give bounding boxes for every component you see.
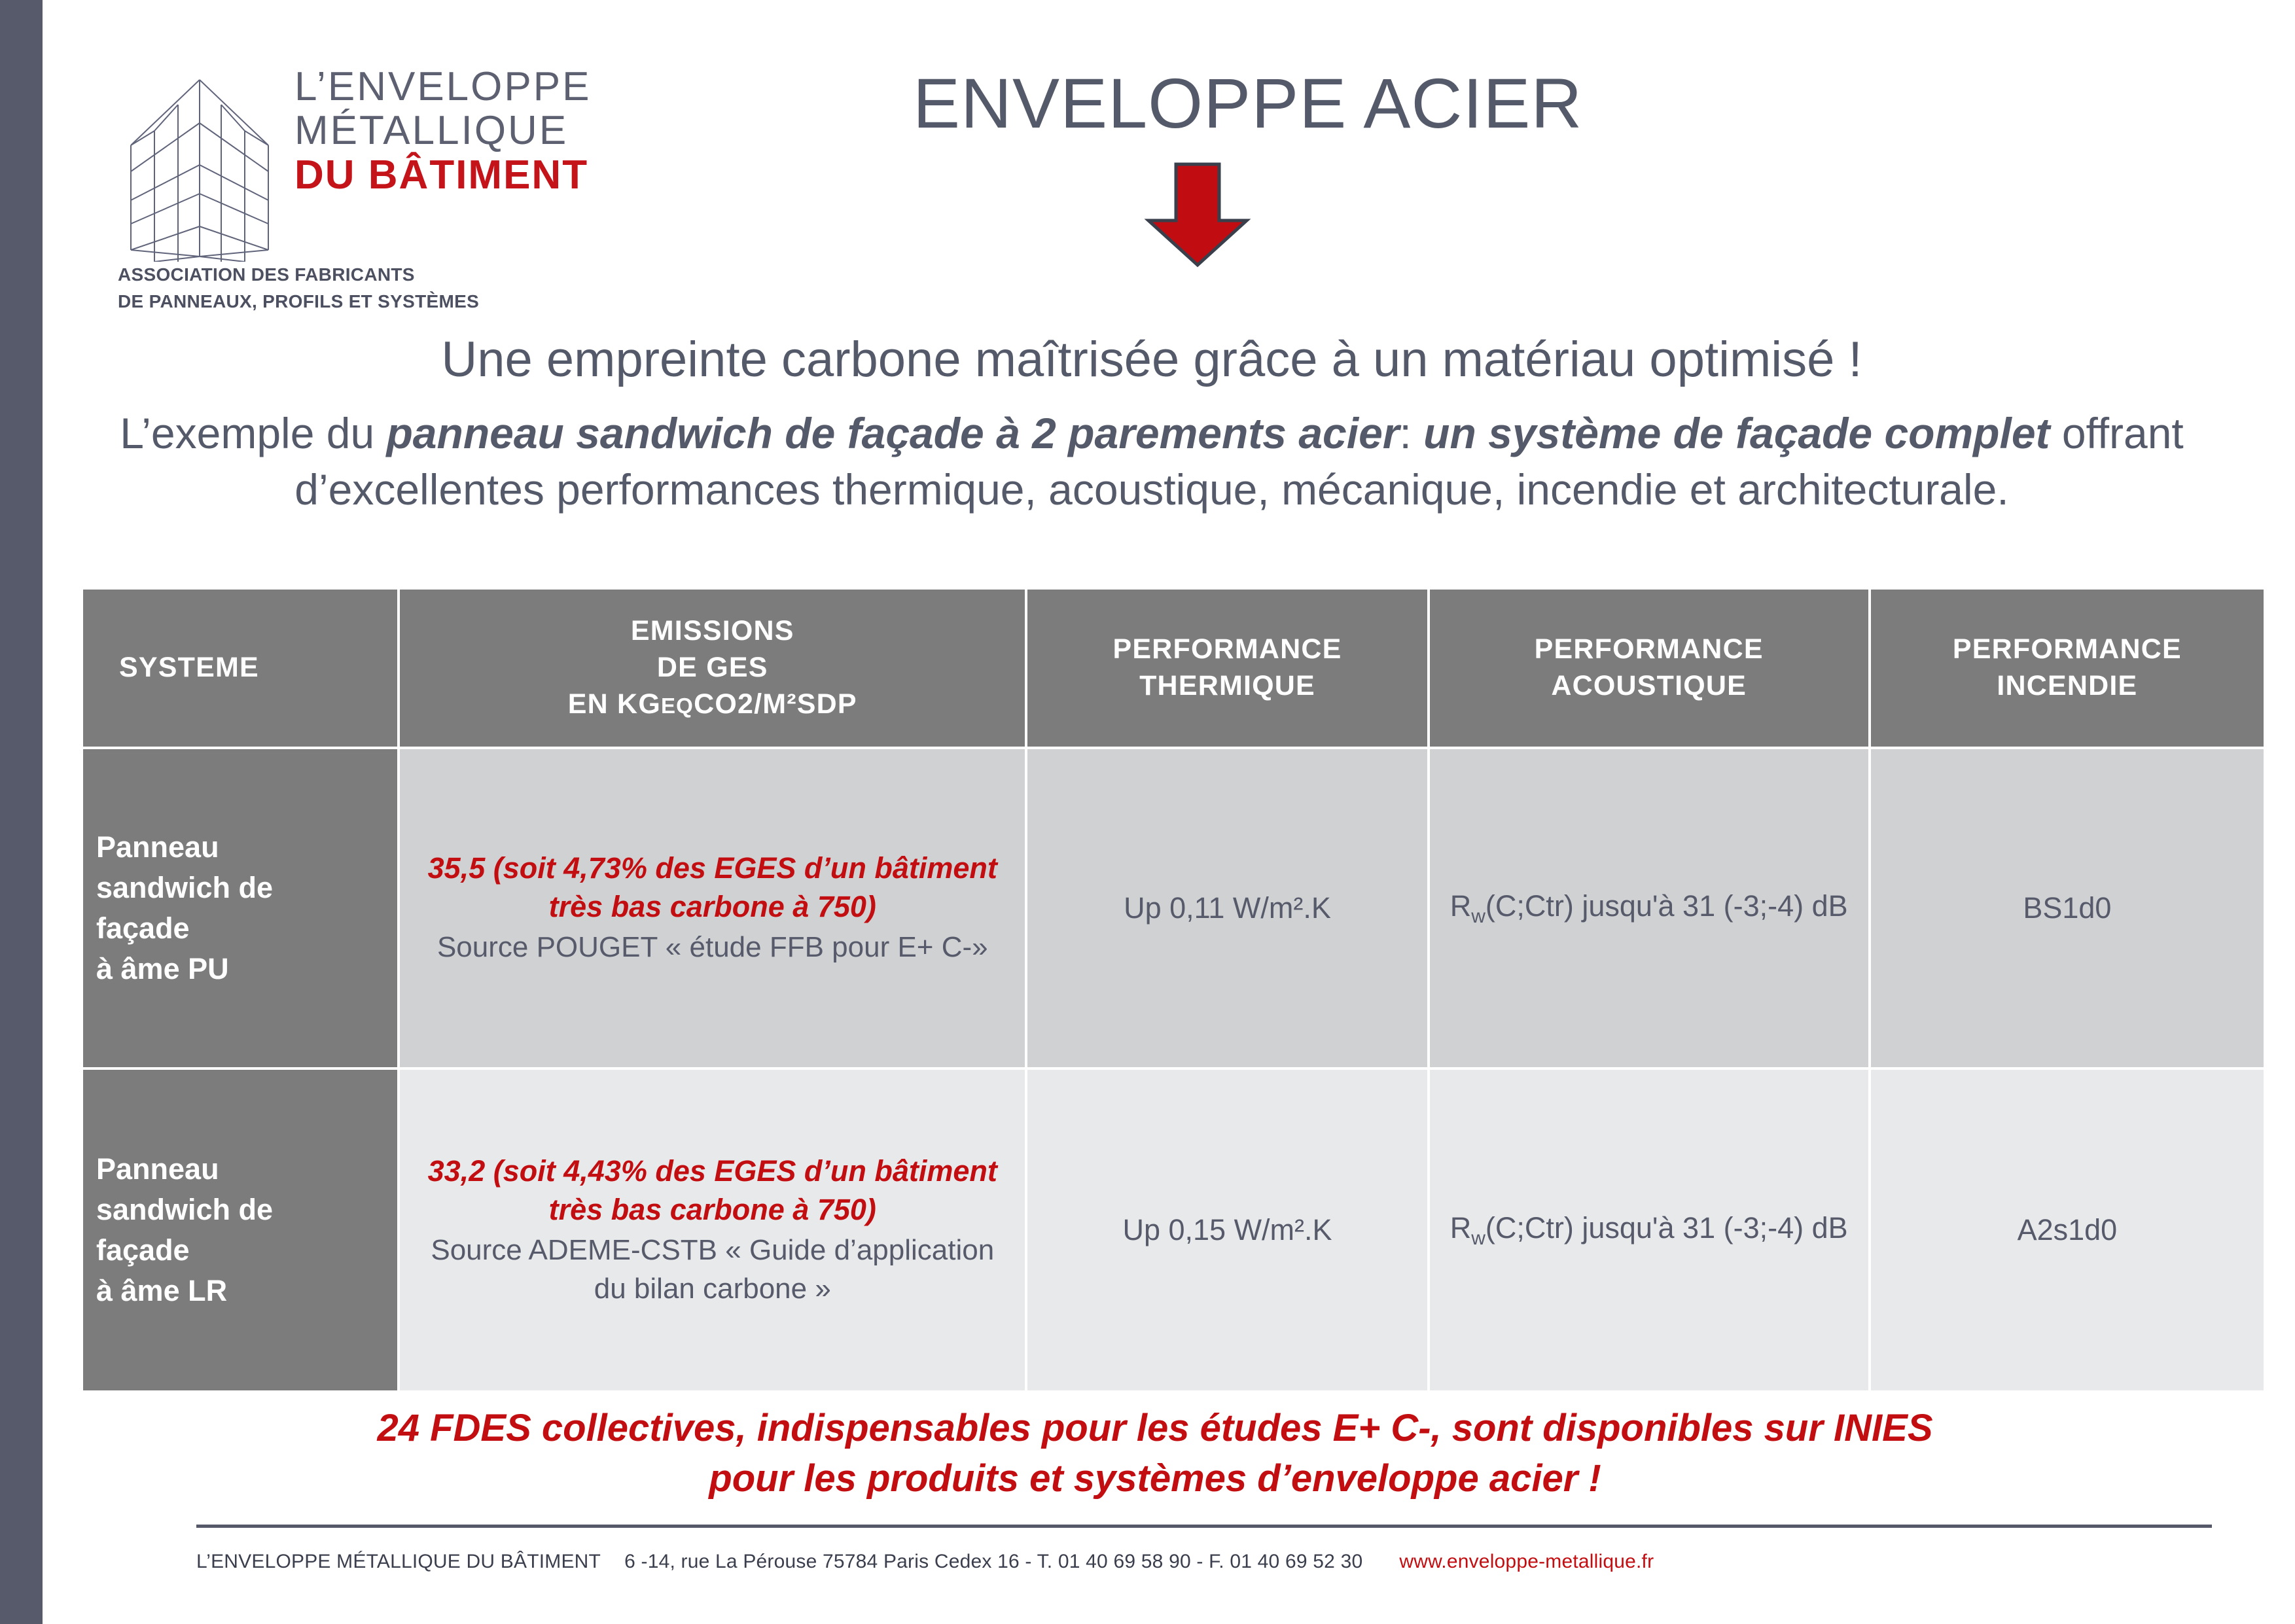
fdes-callout-line-1: 24 FDES collectives, indispensables pour… [79, 1403, 2232, 1454]
acoustique-post: (C;Ctr) jusqu'à 31 (-3;-4) dB [1486, 1211, 1848, 1244]
col-header-thermique-line-1: PERFORMANCE [1027, 631, 1427, 668]
col-header-emissions-ges: EMISSIONS DE GES EN KGEQCO2/M²SDP [400, 590, 1025, 747]
fdes-callout: 24 FDES collectives, indispensables pour… [79, 1403, 2232, 1504]
logo-line-du-batiment: DU BÂTIMENT [294, 153, 622, 198]
systeme-line-4: à âme LR [96, 1271, 397, 1311]
logo-tagline-line-2: DE PANNEAUX, PROFILS ET SYSTÈMES [118, 289, 615, 315]
acoustique-sub: w [1471, 906, 1486, 927]
col-header-ges-line-2: DE GES [400, 650, 1025, 686]
ges-value: 35,5 (soit 4,73% des EGES d’un bâtiment … [417, 849, 1008, 926]
fdes-callout-line-2: pour les produits et systèmes d’envelopp… [79, 1454, 2232, 1504]
systeme-line-4: à âme PU [96, 949, 397, 989]
association-logo: L’ENVELOPPE MÉTALLIQUE DU BÂTIMENT ASSOC… [118, 65, 628, 327]
col-header-systeme: SYSTEME [83, 590, 397, 747]
ges-value: 33,2 (soit 4,43% des EGES d’un bâtiment … [417, 1152, 1008, 1229]
ges-unit-post: CO2/M²SDP [694, 688, 857, 720]
cell-emissions-ges: 33,2 (soit 4,43% des EGES d’un bâtiment … [400, 1070, 1025, 1390]
intro-part-pre: L’exemple du [120, 409, 386, 457]
table-row: Panneau sandwich de façade à âme LR 33,2… [83, 1070, 2264, 1390]
table-header-row: SYSTEME EMISSIONS DE GES EN KGEQCO2/M²SD… [83, 590, 2264, 747]
footer-website-link[interactable]: www.enveloppe-metallique.fr [1399, 1551, 1654, 1572]
building-logo-icon [118, 72, 281, 262]
col-header-acoustique-line-1: PERFORMANCE [1430, 631, 1868, 668]
cell-performance-acoustique: Rw(C;Ctr) jusqu'à 31 (-3;-4) dB [1430, 749, 1868, 1067]
systeme-line-3: façade [96, 1230, 397, 1271]
col-header-performance-incendie: PERFORMANCE INCENDIE [1871, 590, 2264, 747]
down-arrow-icon [1139, 160, 1256, 268]
col-header-thermique-line-2: THERMIQUE [1027, 668, 1427, 705]
systeme-line-1: Panneau [96, 1149, 397, 1190]
logo-line-metallique: MÉTALLIQUE [294, 109, 622, 153]
systeme-line-2: sandwich de [96, 1190, 397, 1230]
ges-unit-eq: EQ [661, 694, 694, 718]
ges-source: Source ADEME-CSTB « Guide d’application … [417, 1231, 1008, 1307]
left-accent-bar [0, 0, 43, 1624]
footer: L’ENVELOPPE MÉTALLIQUE DU BÂTIMENT6 -14,… [196, 1551, 2212, 1573]
footer-divider [196, 1525, 2212, 1528]
intro-part-mid: : [1399, 409, 1423, 457]
systeme-line-3: façade [96, 908, 397, 949]
intro-paragraph: L’exemple du panneau sandwich de façade … [79, 406, 2225, 518]
logo-tagline: ASSOCIATION DES FABRICANTS DE PANNEAUX, … [118, 262, 615, 315]
footer-address: 6 -14, rue La Pérouse 75784 Paris Cedex … [624, 1551, 1362, 1572]
cell-performance-acoustique: Rw(C;Ctr) jusqu'à 31 (-3;-4) dB [1430, 1070, 1868, 1390]
cell-performance-thermique: Up 0,11 W/m².K [1027, 749, 1427, 1067]
col-header-ges-line-1: EMISSIONS [400, 613, 1025, 650]
logo-line-enveloppe: L’ENVELOPPE [294, 65, 622, 109]
cell-performance-incendie: BS1d0 [1871, 749, 2264, 1067]
cell-emissions-ges: 35,5 (soit 4,73% des EGES d’un bâtiment … [400, 749, 1025, 1067]
logo-wordmark: L’ENVELOPPE MÉTALLIQUE DU BÂTIMENT [294, 65, 622, 198]
cell-performance-thermique: Up 0,15 W/m².K [1027, 1070, 1427, 1390]
col-header-acoustique-line-2: ACOUSTIQUE [1430, 668, 1868, 705]
col-header-performance-acoustique: PERFORMANCE ACOUSTIQUE [1430, 590, 1868, 747]
systeme-line-2: sandwich de [96, 868, 397, 908]
intro-part-bold-1: panneau sandwich de façade à 2 parements… [386, 409, 1399, 457]
cell-systeme: Panneau sandwich de façade à âme LR [83, 1070, 397, 1390]
intro-headline: Une empreinte carbone maîtrisée grâce à … [79, 330, 2225, 389]
col-header-incendie-line-1: PERFORMANCE [1871, 631, 2264, 668]
acoustique-post: (C;Ctr) jusqu'à 31 (-3;-4) dB [1486, 889, 1848, 923]
page-title: ENVELOPPE ACIER [913, 62, 1582, 144]
acoustique-pre: R [1450, 889, 1472, 923]
systeme-line-1: Panneau [96, 827, 397, 868]
acoustique-pre: R [1450, 1211, 1472, 1244]
acoustique-sub: w [1471, 1227, 1486, 1249]
performance-table: SYSTEME EMISSIONS DE GES EN KGEQCO2/M²SD… [80, 587, 2266, 1393]
cell-systeme: Panneau sandwich de façade à âme PU [83, 749, 397, 1067]
ges-source: Source POUGET « étude FFB pour E+ C-» [417, 928, 1008, 966]
table-row: Panneau sandwich de façade à âme PU 35,5… [83, 749, 2264, 1067]
footer-org: L’ENVELOPPE MÉTALLIQUE DU BÂTIMENT [196, 1551, 601, 1572]
ges-unit-pre: EN KG [568, 688, 661, 720]
intro-part-bold-2: un système de façade complet [1423, 409, 2050, 457]
col-header-incendie-line-2: INCENDIE [1871, 668, 2264, 705]
cell-performance-incendie: A2s1d0 [1871, 1070, 2264, 1390]
col-header-ges-line-3: EN KGEQCO2/M²SDP [400, 686, 1025, 723]
col-header-performance-thermique: PERFORMANCE THERMIQUE [1027, 590, 1427, 747]
logo-tagline-line-1: ASSOCIATION DES FABRICANTS [118, 262, 615, 289]
